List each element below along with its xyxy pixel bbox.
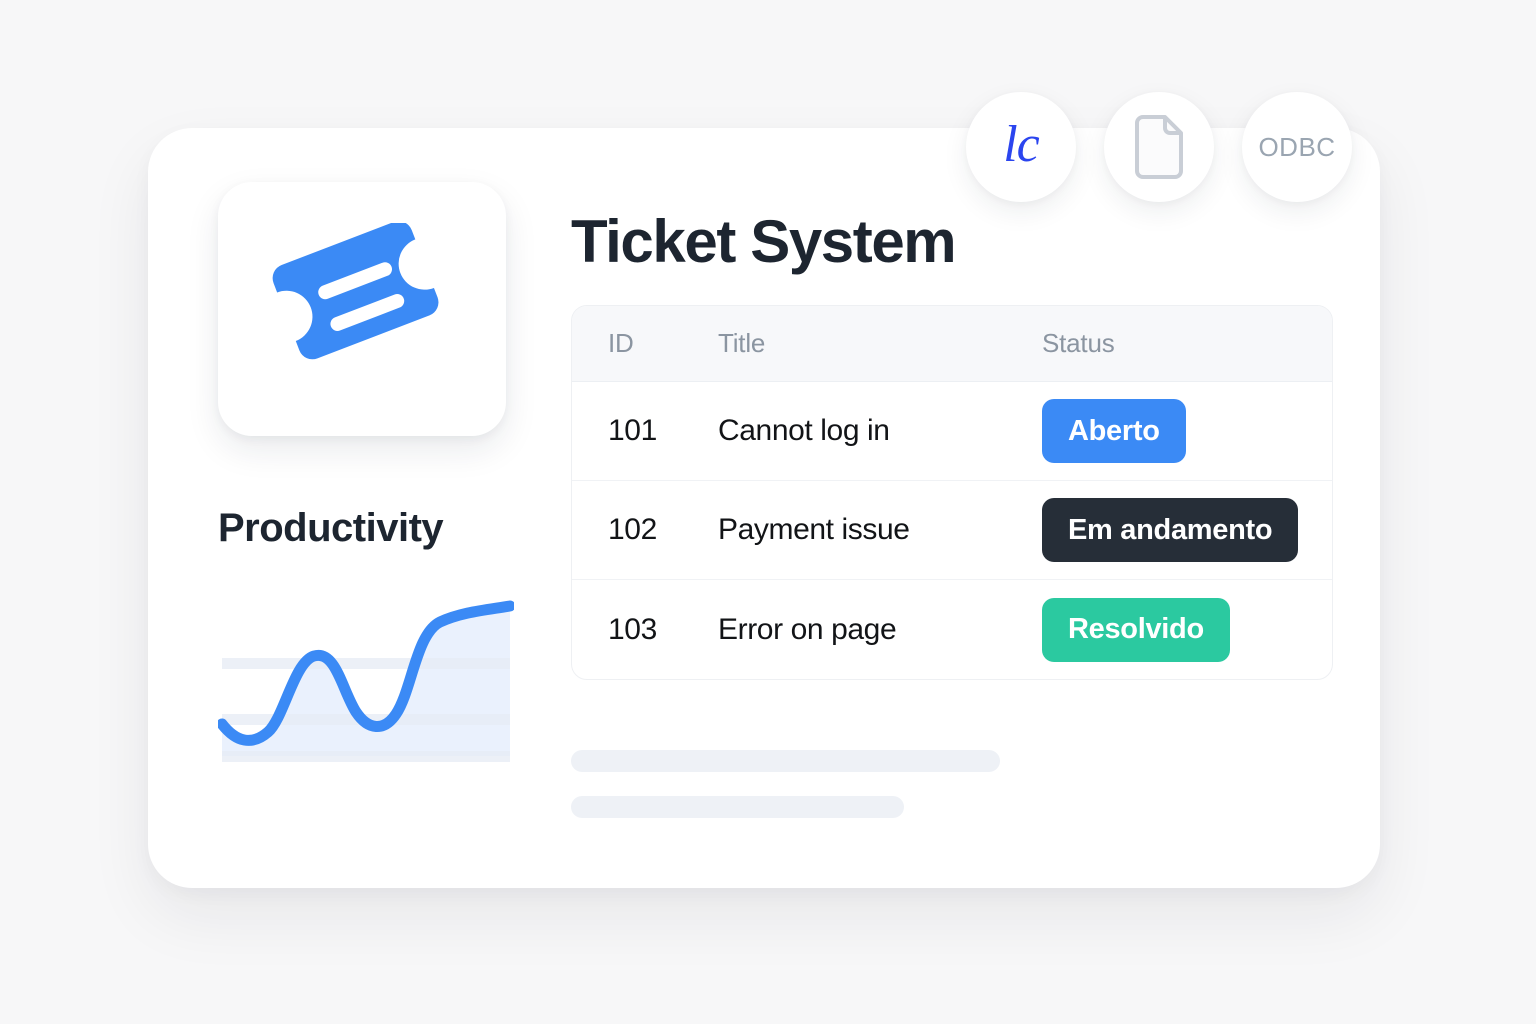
cell-id: 101 — [608, 414, 718, 448]
badge-odbc[interactable]: ODBC — [1242, 92, 1352, 202]
ticket-icon — [264, 223, 460, 396]
badge-document[interactable] — [1104, 92, 1214, 202]
ticket-table: ID Title Status 101 Cannot log in Aberto… — [571, 305, 1333, 680]
document-icon — [1131, 115, 1187, 179]
placeholder-bar — [571, 796, 904, 818]
table-header-row: ID Title Status — [572, 306, 1332, 382]
column-header-id: ID — [608, 328, 718, 359]
cell-title: Payment issue — [718, 513, 1042, 547]
chart-gridline — [222, 658, 510, 669]
cell-title: Cannot log in — [718, 414, 1042, 448]
cell-title: Error on page — [718, 613, 1042, 647]
status-badge-resolvido[interactable]: Resolvido — [1042, 598, 1230, 662]
sidebar: Productivity — [218, 182, 518, 776]
badge-lc-logo[interactable]: lc — [966, 92, 1076, 202]
cell-id: 103 — [608, 613, 718, 647]
status-badge-aberto[interactable]: Aberto — [1042, 399, 1186, 463]
placeholder-bars — [571, 750, 1333, 818]
column-header-status: Status — [1042, 328, 1332, 359]
status-badge-em-andamento[interactable]: Em andamento — [1042, 498, 1298, 562]
chart-gridline — [222, 751, 510, 762]
integration-badge-row: lc ODBC — [966, 92, 1352, 202]
cell-status: Em andamento — [1042, 498, 1332, 562]
section-label: Productivity — [218, 508, 518, 548]
lc-logo-icon: lc — [1003, 119, 1039, 175]
page-title: Ticket System — [571, 210, 1333, 273]
odbc-label: ODBC — [1258, 132, 1335, 163]
column-header-title: Title — [718, 328, 1042, 359]
cell-status: Resolvido — [1042, 598, 1332, 662]
main-content: Ticket System ID Title Status 101 Cannot… — [571, 210, 1333, 818]
app-icon-tile[interactable] — [218, 182, 506, 436]
cell-id: 102 — [608, 513, 718, 547]
productivity-sparkline-chart — [218, 596, 514, 776]
placeholder-bar — [571, 750, 1000, 772]
table-row[interactable]: 103 Error on page Resolvido — [572, 580, 1332, 679]
table-row[interactable]: 101 Cannot log in Aberto — [572, 382, 1332, 481]
table-row[interactable]: 102 Payment issue Em andamento — [572, 481, 1332, 580]
cell-status: Aberto — [1042, 399, 1332, 463]
